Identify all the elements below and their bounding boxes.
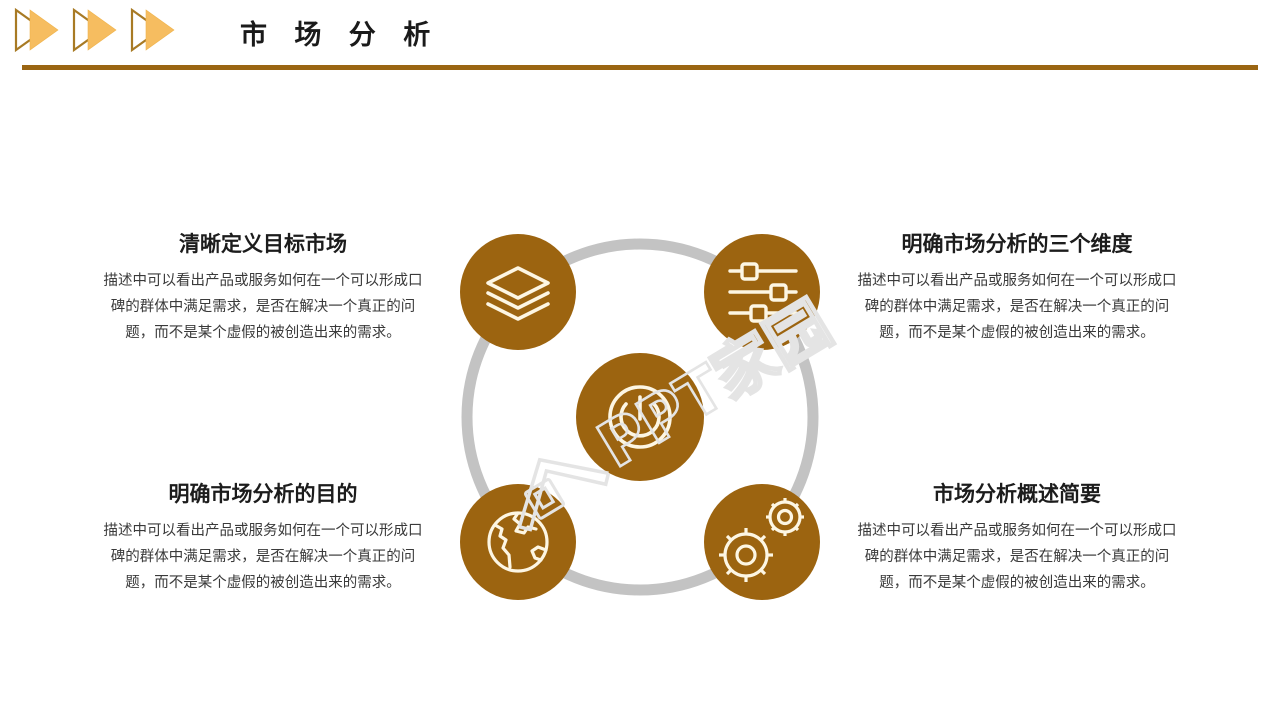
block-title-bottom-right: 市场分析概述简要 [852,482,1182,507]
node-circle-top-left [460,234,576,350]
block-body-bottom-right: 描述中可以看出产品或服务如何在一个可以形成口碑的群体中满足需求，是否在解决一个真… [852,519,1182,596]
four-node-circular-diagram [440,217,840,617]
block-body-bottom-left: 描述中可以看出产品或服务如何在一个可以形成口碑的群体中满足需求，是否在解决一个真… [98,519,428,596]
diagram-node-top-left[interactable] [460,234,576,350]
content-block-bottom-left: 明确市场分析的目的 描述中可以看出产品或服务如何在一个可以形成口碑的群体中满足需… [98,482,428,597]
block-title-top-right: 明确市场分析的三个维度 [852,232,1182,257]
diagram-node-bottom-right[interactable] [704,484,820,600]
block-body-top-right: 描述中可以看出产品或服务如何在一个可以形成口碑的群体中满足需求，是否在解决一个真… [852,269,1182,346]
header-divider [22,65,1258,70]
diagram-node-center[interactable] [576,353,704,481]
node-circle-bottom-left [460,484,576,600]
block-body-top-left: 描述中可以看出产品或服务如何在一个可以形成口碑的群体中满足需求，是否在解决一个真… [98,269,428,346]
diagram-node-top-right[interactable] [704,234,820,350]
page-title: 市 场 分 析 [240,13,439,52]
slide-canvas: 市 场 分 析 清晰定义目标市场 描述中可以看出产品或服务如何在一个可以形成口碑… [0,0,1280,720]
block-title-top-left: 清晰定义目标市场 [98,232,428,257]
triple-double-arrow-decoration-icon [8,6,218,54]
content-block-top-left: 清晰定义目标市场 描述中可以看出产品或服务如何在一个可以形成口碑的群体中满足需求… [98,232,428,347]
sliders-icon [730,264,796,321]
slide-header: 市 场 分 析 [0,0,1280,80]
content-block-bottom-right: 市场分析概述简要 描述中可以看出产品或服务如何在一个可以形成口碑的群体中满足需求… [852,482,1182,597]
content-block-top-right: 明确市场分析的三个维度 描述中可以看出产品或服务如何在一个可以形成口碑的群体中满… [852,232,1182,347]
diagram-node-bottom-left[interactable] [460,484,576,600]
block-title-bottom-left: 明确市场分析的目的 [98,482,428,507]
